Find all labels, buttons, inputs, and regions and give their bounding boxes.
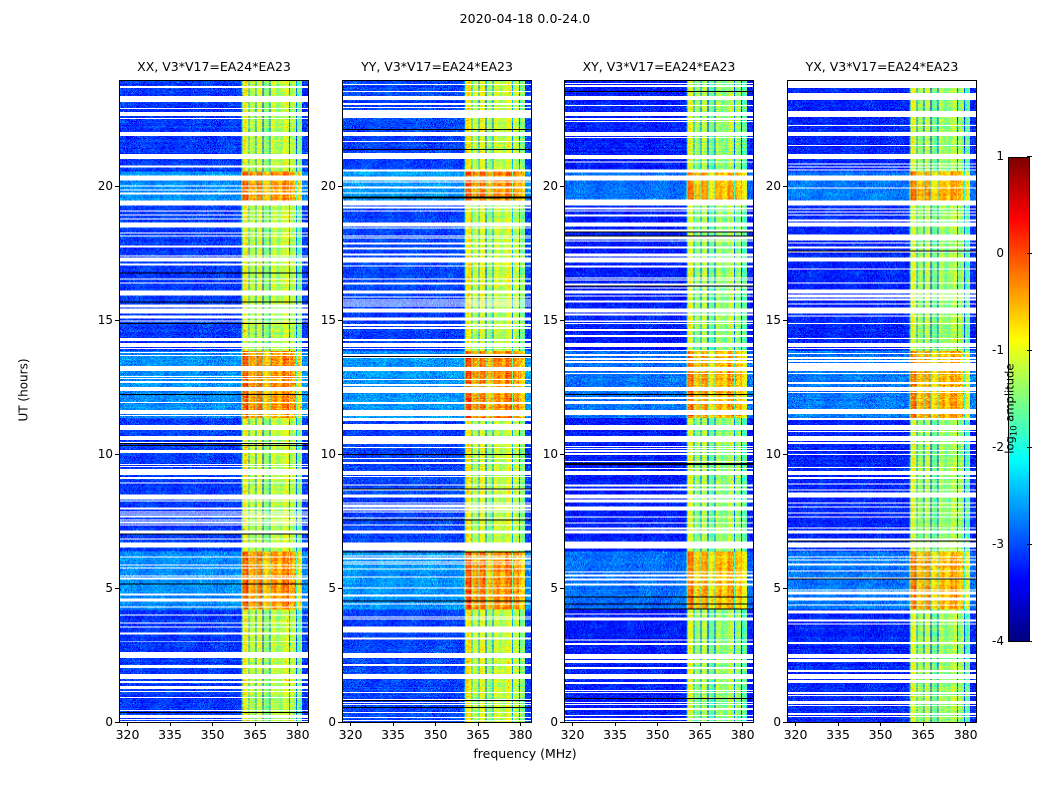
x-tick-label: 320 <box>550 727 596 742</box>
x-tick-label: 350 <box>413 727 459 742</box>
y-tick-mark <box>783 186 787 187</box>
x-tick-mark <box>615 722 616 726</box>
y-tick-mark <box>560 320 564 321</box>
colorbar-tick-mark <box>1027 447 1032 448</box>
y-tick-mark <box>560 186 564 187</box>
x-tick-mark <box>520 722 521 726</box>
y-tick-mark <box>115 722 119 723</box>
colorbar-tick-mark <box>1027 253 1032 254</box>
y-tick-label: 20 <box>747 179 781 193</box>
x-tick-mark <box>965 722 966 726</box>
x-tick-label: 350 <box>190 727 236 742</box>
y-tick-mark <box>560 454 564 455</box>
colorbar-label: log10 amplitude <box>1002 364 1019 454</box>
y-axis-label: UT (hours) <box>17 358 31 421</box>
x-tick-label: 320 <box>773 727 819 742</box>
colorbar-tick-label: -2 <box>978 440 1004 454</box>
waterfall-panel-yx <box>787 80 977 723</box>
x-tick-mark <box>838 722 839 726</box>
figure-canvas: 2020-04-18 0.0-24.0 XX, V3*V17=EA24*EA23… <box>0 0 1050 800</box>
y-tick-mark <box>115 454 119 455</box>
figure-suptitle: 2020-04-18 0.0-24.0 <box>0 11 1050 26</box>
y-tick-label: 5 <box>302 581 336 595</box>
y-tick-mark <box>338 454 342 455</box>
x-tick-mark <box>742 722 743 726</box>
x-tick-label: 335 <box>370 727 416 742</box>
y-tick-label: 0 <box>302 715 336 729</box>
x-tick-mark <box>255 722 256 726</box>
x-tick-mark <box>572 722 573 726</box>
y-tick-label: 20 <box>302 179 336 193</box>
x-tick-label: 350 <box>858 727 904 742</box>
x-tick-label: 320 <box>328 727 374 742</box>
panel-title-xy: XY, V3*V17=EA24*EA23 <box>564 59 754 74</box>
waterfall-panel-xx <box>119 80 309 723</box>
x-tick-mark <box>393 722 394 726</box>
y-tick-label: 5 <box>79 581 113 595</box>
y-tick-mark <box>783 722 787 723</box>
x-tick-mark <box>127 722 128 726</box>
colorbar-tick-mark <box>1027 544 1032 545</box>
x-tick-label: 380 <box>943 727 989 742</box>
waterfall-panel-yy <box>342 80 532 723</box>
y-tick-mark <box>560 588 564 589</box>
colorbar-tick-label: -1 <box>978 343 1004 357</box>
y-tick-mark <box>338 588 342 589</box>
panel-title-yx: YX, V3*V17=EA24*EA23 <box>787 59 977 74</box>
colorbar-tick-label: 1 <box>978 149 1004 163</box>
x-tick-mark <box>350 722 351 726</box>
panel-title-yy: YY, V3*V17=EA24*EA23 <box>342 59 532 74</box>
y-tick-mark <box>338 186 342 187</box>
y-tick-label: 15 <box>302 313 336 327</box>
x-tick-mark <box>170 722 171 726</box>
y-tick-label: 0 <box>524 715 558 729</box>
y-tick-mark <box>115 588 119 589</box>
y-tick-label: 10 <box>79 447 113 461</box>
y-tick-label: 0 <box>747 715 781 729</box>
y-tick-label: 15 <box>79 313 113 327</box>
panel-title-xx: XX, V3*V17=EA24*EA23 <box>119 59 309 74</box>
y-tick-label: 10 <box>747 447 781 461</box>
y-tick-label: 10 <box>302 447 336 461</box>
x-tick-label: 335 <box>815 727 861 742</box>
y-tick-label: 5 <box>747 581 781 595</box>
y-tick-mark <box>783 454 787 455</box>
colorbar-label-tail: amplitude <box>1002 364 1016 426</box>
y-tick-label: 15 <box>747 313 781 327</box>
y-tick-mark <box>783 588 787 589</box>
x-tick-mark <box>923 722 924 726</box>
x-tick-label: 380 <box>498 727 544 742</box>
x-tick-label: 335 <box>147 727 193 742</box>
waterfall-panel-xy <box>564 80 754 723</box>
x-tick-mark <box>795 722 796 726</box>
x-tick-label: 365 <box>677 727 723 742</box>
x-tick-mark <box>212 722 213 726</box>
x-tick-mark <box>880 722 881 726</box>
x-tick-mark <box>478 722 479 726</box>
x-tick-mark <box>297 722 298 726</box>
y-tick-label: 20 <box>524 179 558 193</box>
x-axis-label: frequency (MHz) <box>0 746 1050 761</box>
y-tick-mark <box>560 722 564 723</box>
x-tick-label: 320 <box>105 727 151 742</box>
y-tick-label: 10 <box>524 447 558 461</box>
x-tick-mark <box>435 722 436 726</box>
y-tick-mark <box>115 320 119 321</box>
x-tick-label: 380 <box>275 727 321 742</box>
x-tick-label: 365 <box>900 727 946 742</box>
colorbar-tick-mark <box>1027 156 1032 157</box>
colorbar-tick-label: -4 <box>978 634 1004 648</box>
y-tick-label: 0 <box>79 715 113 729</box>
x-tick-mark <box>700 722 701 726</box>
y-tick-label: 5 <box>524 581 558 595</box>
y-tick-mark <box>783 320 787 321</box>
y-tick-mark <box>115 186 119 187</box>
x-tick-label: 335 <box>592 727 638 742</box>
x-tick-label: 365 <box>232 727 278 742</box>
colorbar-tick-mark <box>1027 350 1032 351</box>
x-tick-label: 380 <box>720 727 766 742</box>
y-tick-label: 15 <box>524 313 558 327</box>
colorbar-tick-mark <box>1027 641 1032 642</box>
x-tick-mark <box>657 722 658 726</box>
colorbar-label-sub: 10 <box>1010 425 1020 436</box>
colorbar-tick-label: 0 <box>978 246 1004 260</box>
y-tick-mark <box>338 320 342 321</box>
x-tick-label: 350 <box>635 727 681 742</box>
y-tick-label: 20 <box>79 179 113 193</box>
colorbar-label-main: log <box>1002 436 1016 454</box>
x-tick-label: 365 <box>455 727 501 742</box>
colorbar-tick-label: -3 <box>978 537 1004 551</box>
y-tick-mark <box>338 722 342 723</box>
